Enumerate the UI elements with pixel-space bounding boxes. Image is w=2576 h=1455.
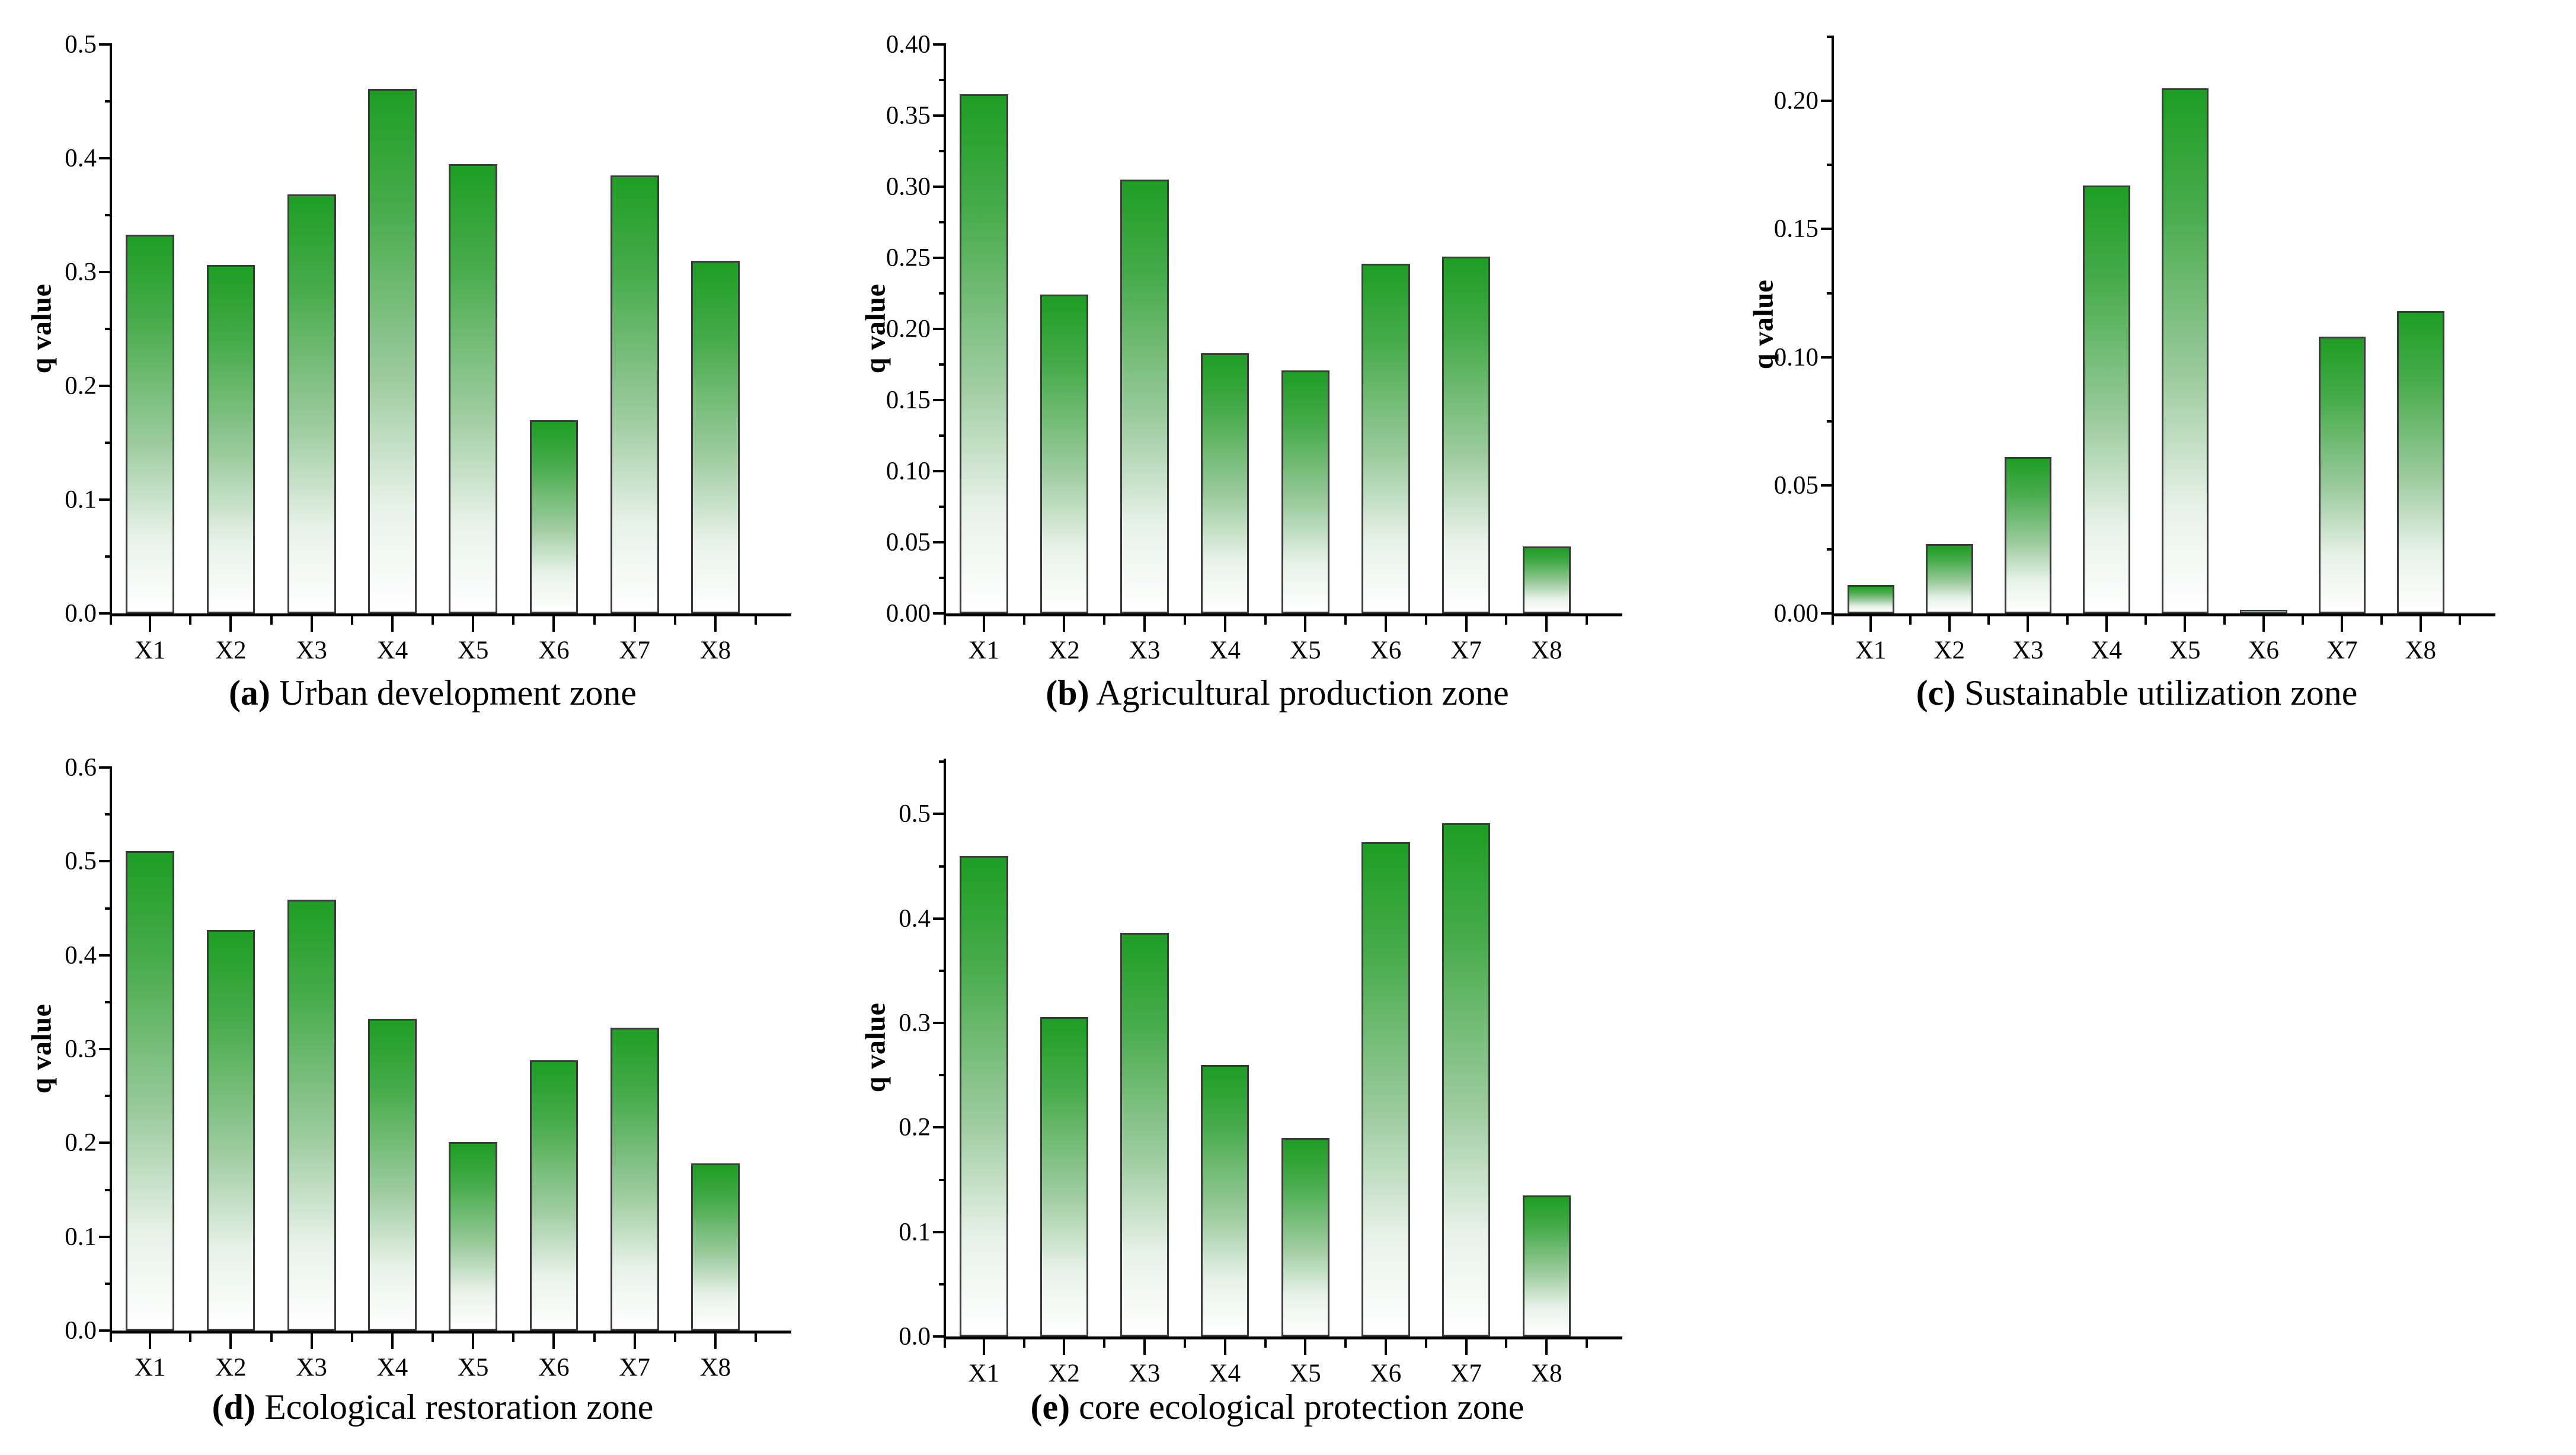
- bar: [287, 194, 336, 613]
- panel-caption-c: (c) Sustainable utilization zone: [1754, 673, 2519, 714]
- y-tick-label: 0.00: [886, 599, 931, 628]
- y-tick-label: 0.40: [886, 30, 931, 59]
- x-axis-label-x1: X1: [135, 1353, 166, 1382]
- x-axis-label-x8: X8: [700, 636, 731, 665]
- y-tick-mark: [105, 1283, 112, 1285]
- bar: [691, 1163, 740, 1331]
- y-tick-label: 0.25: [886, 244, 931, 273]
- x-tick-minor: [432, 616, 434, 625]
- y-tick-mark: [933, 612, 946, 615]
- y-tick-mark: [99, 612, 112, 615]
- x-axis-label-x3: X3: [1129, 636, 1161, 665]
- y-axis-label: q value: [859, 988, 892, 1107]
- bar: [1281, 370, 1329, 613]
- x-axis-label-x8: X8: [700, 1353, 731, 1382]
- figure-root: q value0.00.10.20.30.40.5X1X2X3X4X5X6X7X…: [0, 0, 2576, 1455]
- x-tick-minor: [1023, 616, 1025, 625]
- x-axis-label-x3: X3: [296, 636, 327, 665]
- x-axis-label-x2: X2: [1049, 636, 1080, 665]
- x-tick-major: [1143, 1339, 1146, 1355]
- x-tick-minor: [755, 616, 757, 625]
- bar: [2005, 457, 2052, 613]
- y-tick-label: 0.35: [886, 101, 931, 130]
- x-axis-label-x7: X7: [1450, 1359, 1482, 1388]
- x-tick-major: [2027, 616, 2029, 632]
- bar: [368, 1019, 417, 1331]
- x-tick-major: [634, 616, 636, 632]
- x-axis-label-x4: X4: [2091, 636, 2122, 665]
- x-tick-major: [1224, 616, 1226, 632]
- y-tick-mark: [939, 150, 946, 152]
- x-axis-label-x8: X8: [2405, 636, 2436, 665]
- plot-area-d: 0.00.10.20.30.40.50.6X1X2X3X4X5X6X7X8: [110, 768, 756, 1331]
- x-tick-minor: [1987, 616, 1990, 625]
- x-axis-line: [110, 1331, 791, 1334]
- bar: [2083, 186, 2130, 613]
- bar: [2319, 337, 2366, 613]
- y-tick-label: 0.4: [65, 941, 97, 970]
- x-axis-label-x2: X2: [215, 636, 247, 665]
- bar: [126, 235, 174, 613]
- y-tick-mark: [99, 1236, 112, 1238]
- x-axis-label-x4: X4: [377, 1353, 408, 1382]
- x-tick-major: [634, 1334, 636, 1349]
- y-tick-label: 0.4: [899, 904, 931, 933]
- bar: [126, 851, 174, 1331]
- x-tick-major: [2184, 616, 2186, 632]
- y-tick-mark: [933, 917, 946, 920]
- x-tick-minor: [593, 616, 596, 625]
- x-axis-label-x4: X4: [377, 636, 408, 665]
- y-tick-label: 0.15: [1774, 215, 1818, 244]
- caption-text: Ecological restoration zone: [255, 1387, 653, 1427]
- x-axis-label-x4: X4: [1209, 636, 1241, 665]
- x-tick-minor: [1505, 616, 1507, 625]
- y-tick-mark: [939, 79, 946, 81]
- bar: [207, 265, 255, 613]
- y-tick-label: 0.1: [65, 1222, 97, 1251]
- x-tick-major: [2420, 616, 2422, 632]
- caption-marker: (b): [1046, 673, 1089, 712]
- y-tick-label: 0.2: [899, 1113, 931, 1142]
- x-tick-major: [1304, 1339, 1306, 1355]
- x-axis-label-x5: X5: [2169, 636, 2201, 665]
- x-tick-minor: [674, 1334, 676, 1342]
- y-tick-mark: [933, 1126, 946, 1128]
- x-tick-major: [1545, 616, 1548, 632]
- y-tick-label: 0.6: [65, 753, 97, 782]
- y-tick-mark: [939, 221, 946, 223]
- y-tick-label: 0.10: [886, 457, 931, 486]
- x-axis-label-x1: X1: [969, 1359, 1000, 1388]
- bar: [1040, 295, 1088, 613]
- x-tick-major: [229, 1334, 232, 1349]
- bar: [449, 164, 497, 613]
- y-tick-mark: [933, 1022, 946, 1024]
- panel-caption-b: (b) Agricultural production zone: [901, 673, 1654, 714]
- x-tick-minor: [270, 616, 273, 625]
- x-axis-label-x6: X6: [2248, 636, 2279, 665]
- y-tick-mark: [933, 470, 946, 472]
- y-tick-label: 0.0: [65, 599, 97, 628]
- y-tick-mark: [105, 100, 112, 103]
- x-tick-minor: [1023, 1339, 1025, 1348]
- x-tick-major: [472, 1334, 474, 1349]
- y-tick-mark: [1827, 548, 1834, 551]
- bar: [1523, 1195, 1571, 1336]
- x-tick-minor: [110, 1334, 112, 1342]
- panel-caption-d: (d) Ecological restoration zone: [83, 1387, 782, 1428]
- x-tick-major: [311, 616, 313, 632]
- x-tick-major: [1063, 616, 1065, 632]
- x-tick-minor: [432, 1334, 434, 1342]
- x-axis-label-x2: X2: [1933, 636, 1965, 665]
- x-tick-minor: [1264, 1339, 1267, 1348]
- x-axis-label-x5: X5: [1290, 1359, 1321, 1388]
- x-axis-label-x4: X4: [1209, 1359, 1241, 1388]
- x-axis-label-x6: X6: [1370, 636, 1402, 665]
- x-axis-label-x3: X3: [2012, 636, 2044, 665]
- x-axis-label-x7: X7: [2326, 636, 2358, 665]
- x-tick-major: [1545, 1339, 1548, 1355]
- y-tick-mark: [99, 1048, 112, 1050]
- x-tick-major: [1948, 616, 1951, 632]
- x-tick-minor: [1344, 616, 1347, 625]
- bar: [1523, 546, 1571, 613]
- x-axis-label-x5: X5: [458, 636, 489, 665]
- bar: [530, 1060, 579, 1331]
- x-tick-major: [1465, 1339, 1468, 1355]
- y-axis-label: q value: [25, 270, 58, 388]
- y-tick-mark: [939, 292, 946, 295]
- x-axis-line: [944, 1336, 1622, 1339]
- x-tick-major: [1385, 1339, 1387, 1355]
- x-tick-major: [1869, 616, 1872, 632]
- x-tick-major: [2105, 616, 2108, 632]
- bar: [2162, 88, 2209, 613]
- x-tick-minor: [755, 1334, 757, 1342]
- y-tick-label: 0.20: [886, 315, 931, 344]
- caption-marker: (c): [1916, 673, 1956, 712]
- bar: [611, 175, 659, 613]
- x-tick-minor: [1586, 616, 1588, 625]
- x-tick-minor: [512, 1334, 514, 1342]
- bar: [1361, 842, 1410, 1336]
- bar: [1848, 585, 1895, 613]
- x-axis-label-x8: X8: [1531, 636, 1562, 665]
- x-axis-label-x3: X3: [1129, 1359, 1161, 1388]
- y-tick-mark: [939, 577, 946, 579]
- x-tick-minor: [2066, 616, 2069, 625]
- x-tick-major: [229, 616, 232, 632]
- x-tick-major: [1304, 616, 1306, 632]
- y-tick-mark: [933, 328, 946, 330]
- bar: [960, 94, 1008, 613]
- y-tick-label: 0.30: [886, 172, 931, 202]
- x-tick-minor: [1909, 616, 1912, 625]
- x-axis-label-x2: X2: [1049, 1359, 1080, 1388]
- y-tick-label: 0.05: [886, 528, 931, 557]
- y-tick-mark: [99, 860, 112, 862]
- panel-caption-e: (e) core ecological protection zone: [901, 1387, 1654, 1428]
- x-tick-minor: [270, 1334, 273, 1342]
- y-tick-mark: [1821, 484, 1834, 487]
- y-tick-label: 0.1: [899, 1217, 931, 1246]
- x-tick-minor: [1425, 616, 1427, 625]
- x-axis-label-x8: X8: [1531, 1359, 1562, 1388]
- x-tick-major: [2341, 616, 2343, 632]
- y-tick-mark: [105, 1001, 112, 1003]
- x-tick-minor: [674, 616, 676, 625]
- bar: [1926, 544, 1973, 613]
- x-tick-minor: [1184, 616, 1186, 625]
- y-tick-mark: [99, 271, 112, 273]
- y-tick-mark: [939, 1074, 946, 1076]
- x-tick-minor: [593, 1334, 596, 1342]
- y-tick-label: 0.0: [65, 1316, 97, 1345]
- y-tick-mark: [933, 399, 946, 401]
- plot-area-b: 0.000.050.100.150.200.250.300.350.40X1X2…: [944, 44, 1587, 613]
- y-tick-label: 0.2: [65, 372, 97, 401]
- y-tick-mark: [933, 813, 946, 815]
- y-tick-mark: [99, 766, 112, 769]
- y-tick-mark: [939, 865, 946, 868]
- bar: [287, 900, 336, 1331]
- y-tick-label: 0.5: [65, 30, 97, 59]
- y-tick-mark: [105, 214, 112, 216]
- y-tick-mark: [939, 760, 946, 763]
- x-tick-minor: [189, 1334, 191, 1342]
- bar: [1120, 933, 1168, 1336]
- caption-marker: (a): [229, 673, 270, 712]
- y-tick-mark: [1821, 356, 1834, 359]
- x-tick-minor: [2459, 616, 2461, 625]
- y-tick-mark: [939, 506, 946, 508]
- x-axis-label-x3: X3: [296, 1353, 327, 1382]
- x-axis-label-x6: X6: [538, 636, 570, 665]
- bar: [530, 420, 579, 613]
- y-tick-mark: [105, 328, 112, 330]
- x-tick-major: [149, 616, 151, 632]
- x-tick-major: [983, 616, 985, 632]
- x-tick-minor: [351, 616, 353, 625]
- y-tick-label: 0.5: [65, 847, 97, 876]
- y-tick-mark: [939, 1283, 946, 1285]
- bar: [2397, 311, 2444, 613]
- y-tick-mark: [1821, 228, 1834, 230]
- x-tick-major: [1143, 616, 1146, 632]
- x-tick-minor: [1586, 1339, 1588, 1348]
- x-tick-minor: [1344, 1339, 1347, 1348]
- bar: [1361, 264, 1410, 613]
- y-tick-mark: [99, 954, 112, 957]
- bar: [368, 89, 417, 613]
- bar: [1201, 1065, 1249, 1336]
- caption-marker: (d): [212, 1387, 255, 1427]
- x-axis-line: [944, 613, 1622, 616]
- x-axis-label-x7: X7: [1450, 636, 1482, 665]
- y-tick-mark: [939, 434, 946, 437]
- caption-marker: (e): [1031, 1387, 1070, 1427]
- y-tick-mark: [1827, 292, 1834, 295]
- bar: [1040, 1017, 1088, 1337]
- y-tick-mark: [99, 43, 112, 46]
- x-axis-label-x1: X1: [135, 636, 166, 665]
- y-tick-mark: [105, 1095, 112, 1097]
- y-tick-mark: [939, 970, 946, 972]
- x-tick-minor: [944, 616, 946, 625]
- x-tick-minor: [1264, 616, 1267, 625]
- y-tick-mark: [105, 442, 112, 444]
- y-tick-mark: [933, 1231, 946, 1233]
- y-tick-mark: [105, 813, 112, 816]
- y-tick-mark: [99, 1329, 112, 1332]
- caption-text: core ecological protection zone: [1070, 1387, 1524, 1427]
- y-tick-mark: [1821, 100, 1834, 102]
- x-tick-major: [472, 616, 474, 632]
- bar: [960, 856, 1008, 1336]
- x-tick-major: [552, 616, 555, 632]
- bar: [1120, 180, 1168, 613]
- bar: [611, 1028, 659, 1331]
- plot-area-e: 0.00.10.20.30.40.5X1X2X3X4X5X6X7X8: [944, 759, 1587, 1336]
- bar: [2240, 610, 2287, 613]
- bar: [1201, 353, 1249, 613]
- x-tick-minor: [1103, 616, 1105, 625]
- y-tick-mark: [99, 157, 112, 159]
- x-tick-minor: [2302, 616, 2304, 625]
- panel-caption-a: (a) Urban development zone: [83, 673, 782, 714]
- x-axis-label-x6: X6: [1370, 1359, 1402, 1388]
- x-axis-line: [1832, 613, 2495, 616]
- x-axis-line: [110, 613, 791, 616]
- y-tick-label: 0.4: [65, 144, 97, 173]
- y-tick-label: 0.3: [65, 258, 97, 287]
- x-tick-minor: [1184, 1339, 1186, 1348]
- x-axis-label-x5: X5: [1290, 636, 1321, 665]
- x-tick-major: [552, 1334, 555, 1349]
- x-tick-major: [2262, 616, 2265, 632]
- x-axis-label-x7: X7: [619, 1353, 650, 1382]
- x-axis-label-x2: X2: [215, 1353, 247, 1382]
- caption-text: Urban development zone: [270, 673, 637, 712]
- x-tick-major: [391, 616, 394, 632]
- y-tick-mark: [1827, 36, 1834, 38]
- x-tick-minor: [2144, 616, 2147, 625]
- y-tick-mark: [933, 541, 946, 543]
- y-tick-mark: [933, 186, 946, 188]
- x-tick-minor: [1832, 616, 1834, 625]
- caption-text: Agricultural production zone: [1089, 673, 1509, 712]
- x-tick-minor: [2380, 616, 2383, 625]
- y-tick-mark: [105, 555, 112, 558]
- y-tick-label: 0.05: [1774, 471, 1818, 500]
- y-tick-mark: [1827, 164, 1834, 166]
- x-tick-major: [149, 1334, 151, 1349]
- x-tick-major: [1063, 1339, 1065, 1355]
- bar: [691, 261, 740, 613]
- x-tick-major: [714, 1334, 717, 1349]
- x-axis-label-x7: X7: [619, 636, 650, 665]
- y-tick-mark: [1827, 420, 1834, 423]
- y-tick-label: 0.3: [899, 1009, 931, 1038]
- y-tick-label: 0.00: [1774, 599, 1818, 628]
- y-tick-label: 0.1: [65, 485, 97, 514]
- y-tick-mark: [99, 498, 112, 501]
- x-tick-major: [391, 1334, 394, 1349]
- x-tick-major: [714, 616, 717, 632]
- y-tick-label: 0.5: [899, 800, 931, 829]
- x-tick-major: [1224, 1339, 1226, 1355]
- x-tick-major: [1385, 616, 1387, 632]
- y-axis-line: [1832, 36, 1834, 613]
- bar: [449, 1142, 497, 1331]
- plot-area-a: 0.00.10.20.30.40.5X1X2X3X4X5X6X7X8: [110, 44, 756, 613]
- x-axis-label-x5: X5: [458, 1353, 489, 1382]
- y-tick-label: 0.0: [899, 1322, 931, 1351]
- y-tick-mark: [939, 1179, 946, 1181]
- y-tick-mark: [99, 385, 112, 387]
- y-tick-label: 0.2: [65, 1128, 97, 1157]
- bar: [1281, 1138, 1329, 1336]
- y-tick-mark: [933, 114, 946, 117]
- y-tick-mark: [939, 363, 946, 366]
- caption-text: Sustainable utilization zone: [1955, 673, 2357, 712]
- bar: [207, 930, 255, 1331]
- y-tick-label: 0.3: [65, 1035, 97, 1064]
- x-tick-minor: [189, 616, 191, 625]
- y-tick-mark: [105, 907, 112, 910]
- x-axis-label-x1: X1: [1855, 636, 1887, 665]
- bar: [1442, 823, 1490, 1336]
- x-tick-minor: [1103, 1339, 1105, 1348]
- y-tick-label: 0.20: [1774, 87, 1818, 116]
- x-tick-minor: [512, 616, 514, 625]
- plot-area-c: 0.000.050.100.150.20X1X2X3X4X5X6X7X8: [1832, 36, 2460, 613]
- x-tick-minor: [1425, 1339, 1427, 1348]
- x-tick-minor: [2223, 616, 2226, 625]
- x-tick-major: [1465, 616, 1468, 632]
- x-tick-major: [983, 1339, 985, 1355]
- x-tick-minor: [351, 1334, 353, 1342]
- y-tick-mark: [933, 257, 946, 259]
- x-axis-label-x6: X6: [538, 1353, 570, 1382]
- y-tick-mark: [933, 1335, 946, 1338]
- y-tick-mark: [1821, 612, 1834, 615]
- y-axis-line: [944, 759, 946, 1336]
- x-tick-minor: [944, 1339, 946, 1348]
- y-axis-label: q value: [25, 990, 58, 1108]
- x-tick-major: [311, 1334, 313, 1349]
- y-tick-mark: [933, 43, 946, 46]
- y-tick-label: 0.15: [886, 386, 931, 415]
- x-tick-minor: [110, 616, 112, 625]
- x-axis-label-x1: X1: [969, 636, 1000, 665]
- x-tick-minor: [1505, 1339, 1507, 1348]
- bar: [1442, 257, 1490, 613]
- y-tick-mark: [99, 1141, 112, 1144]
- y-tick-label: 0.10: [1774, 343, 1818, 372]
- y-tick-mark: [105, 1189, 112, 1191]
